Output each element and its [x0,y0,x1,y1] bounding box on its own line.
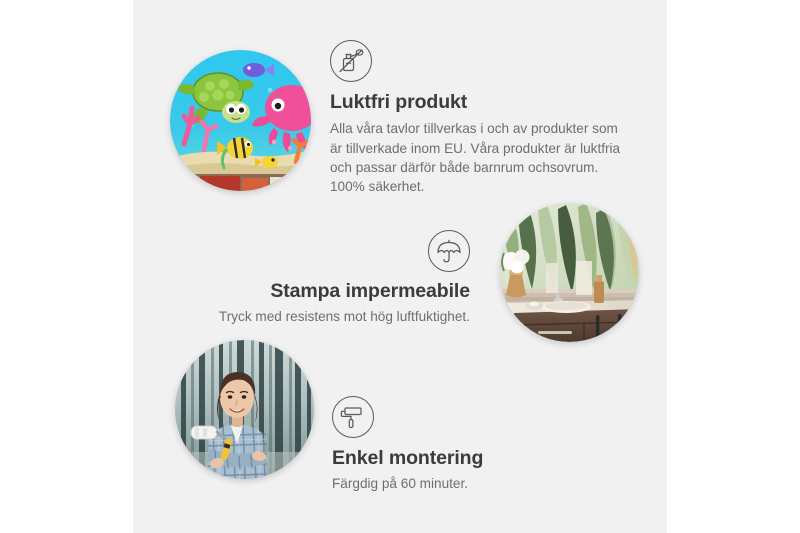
no-fragrance-icon [330,40,372,82]
feature-stampa-impermeabile: Stampa impermeabile Tryck med resistens … [180,230,470,327]
feature-description: Alla våra tavlor tillverkas i och av pro… [330,119,630,196]
feature-description: Tryck med resistens mot hög luftfuktighe… [180,307,470,326]
photo-underwater-cartoon-mural [170,50,311,191]
feature-icon-row [180,230,470,272]
umbrella-icon [428,230,470,272]
infographic-stage: Luktfri produkt Alla våra tavlor tillver… [0,0,800,533]
feature-title: Stampa impermeabile [180,279,470,303]
feature-luktfri-produkt: Luktfri produkt Alla våra tavlor tillver… [330,40,630,197]
feature-title: Luktfri produkt [330,90,630,114]
feature-description: Färgdig på 60 minuter. [332,474,612,493]
paint-roller-icon [332,396,374,438]
feature-title: Enkel montering [332,446,612,470]
photo-bathroom-tropical-wallpaper [500,203,639,342]
photo-woman-with-paint-roller-forest-wallpaper [175,340,314,479]
feature-enkel-montering: Enkel montering Färgdig på 60 minuter. [332,396,612,494]
content-panel: Luktfri produkt Alla våra tavlor tillver… [133,0,667,533]
